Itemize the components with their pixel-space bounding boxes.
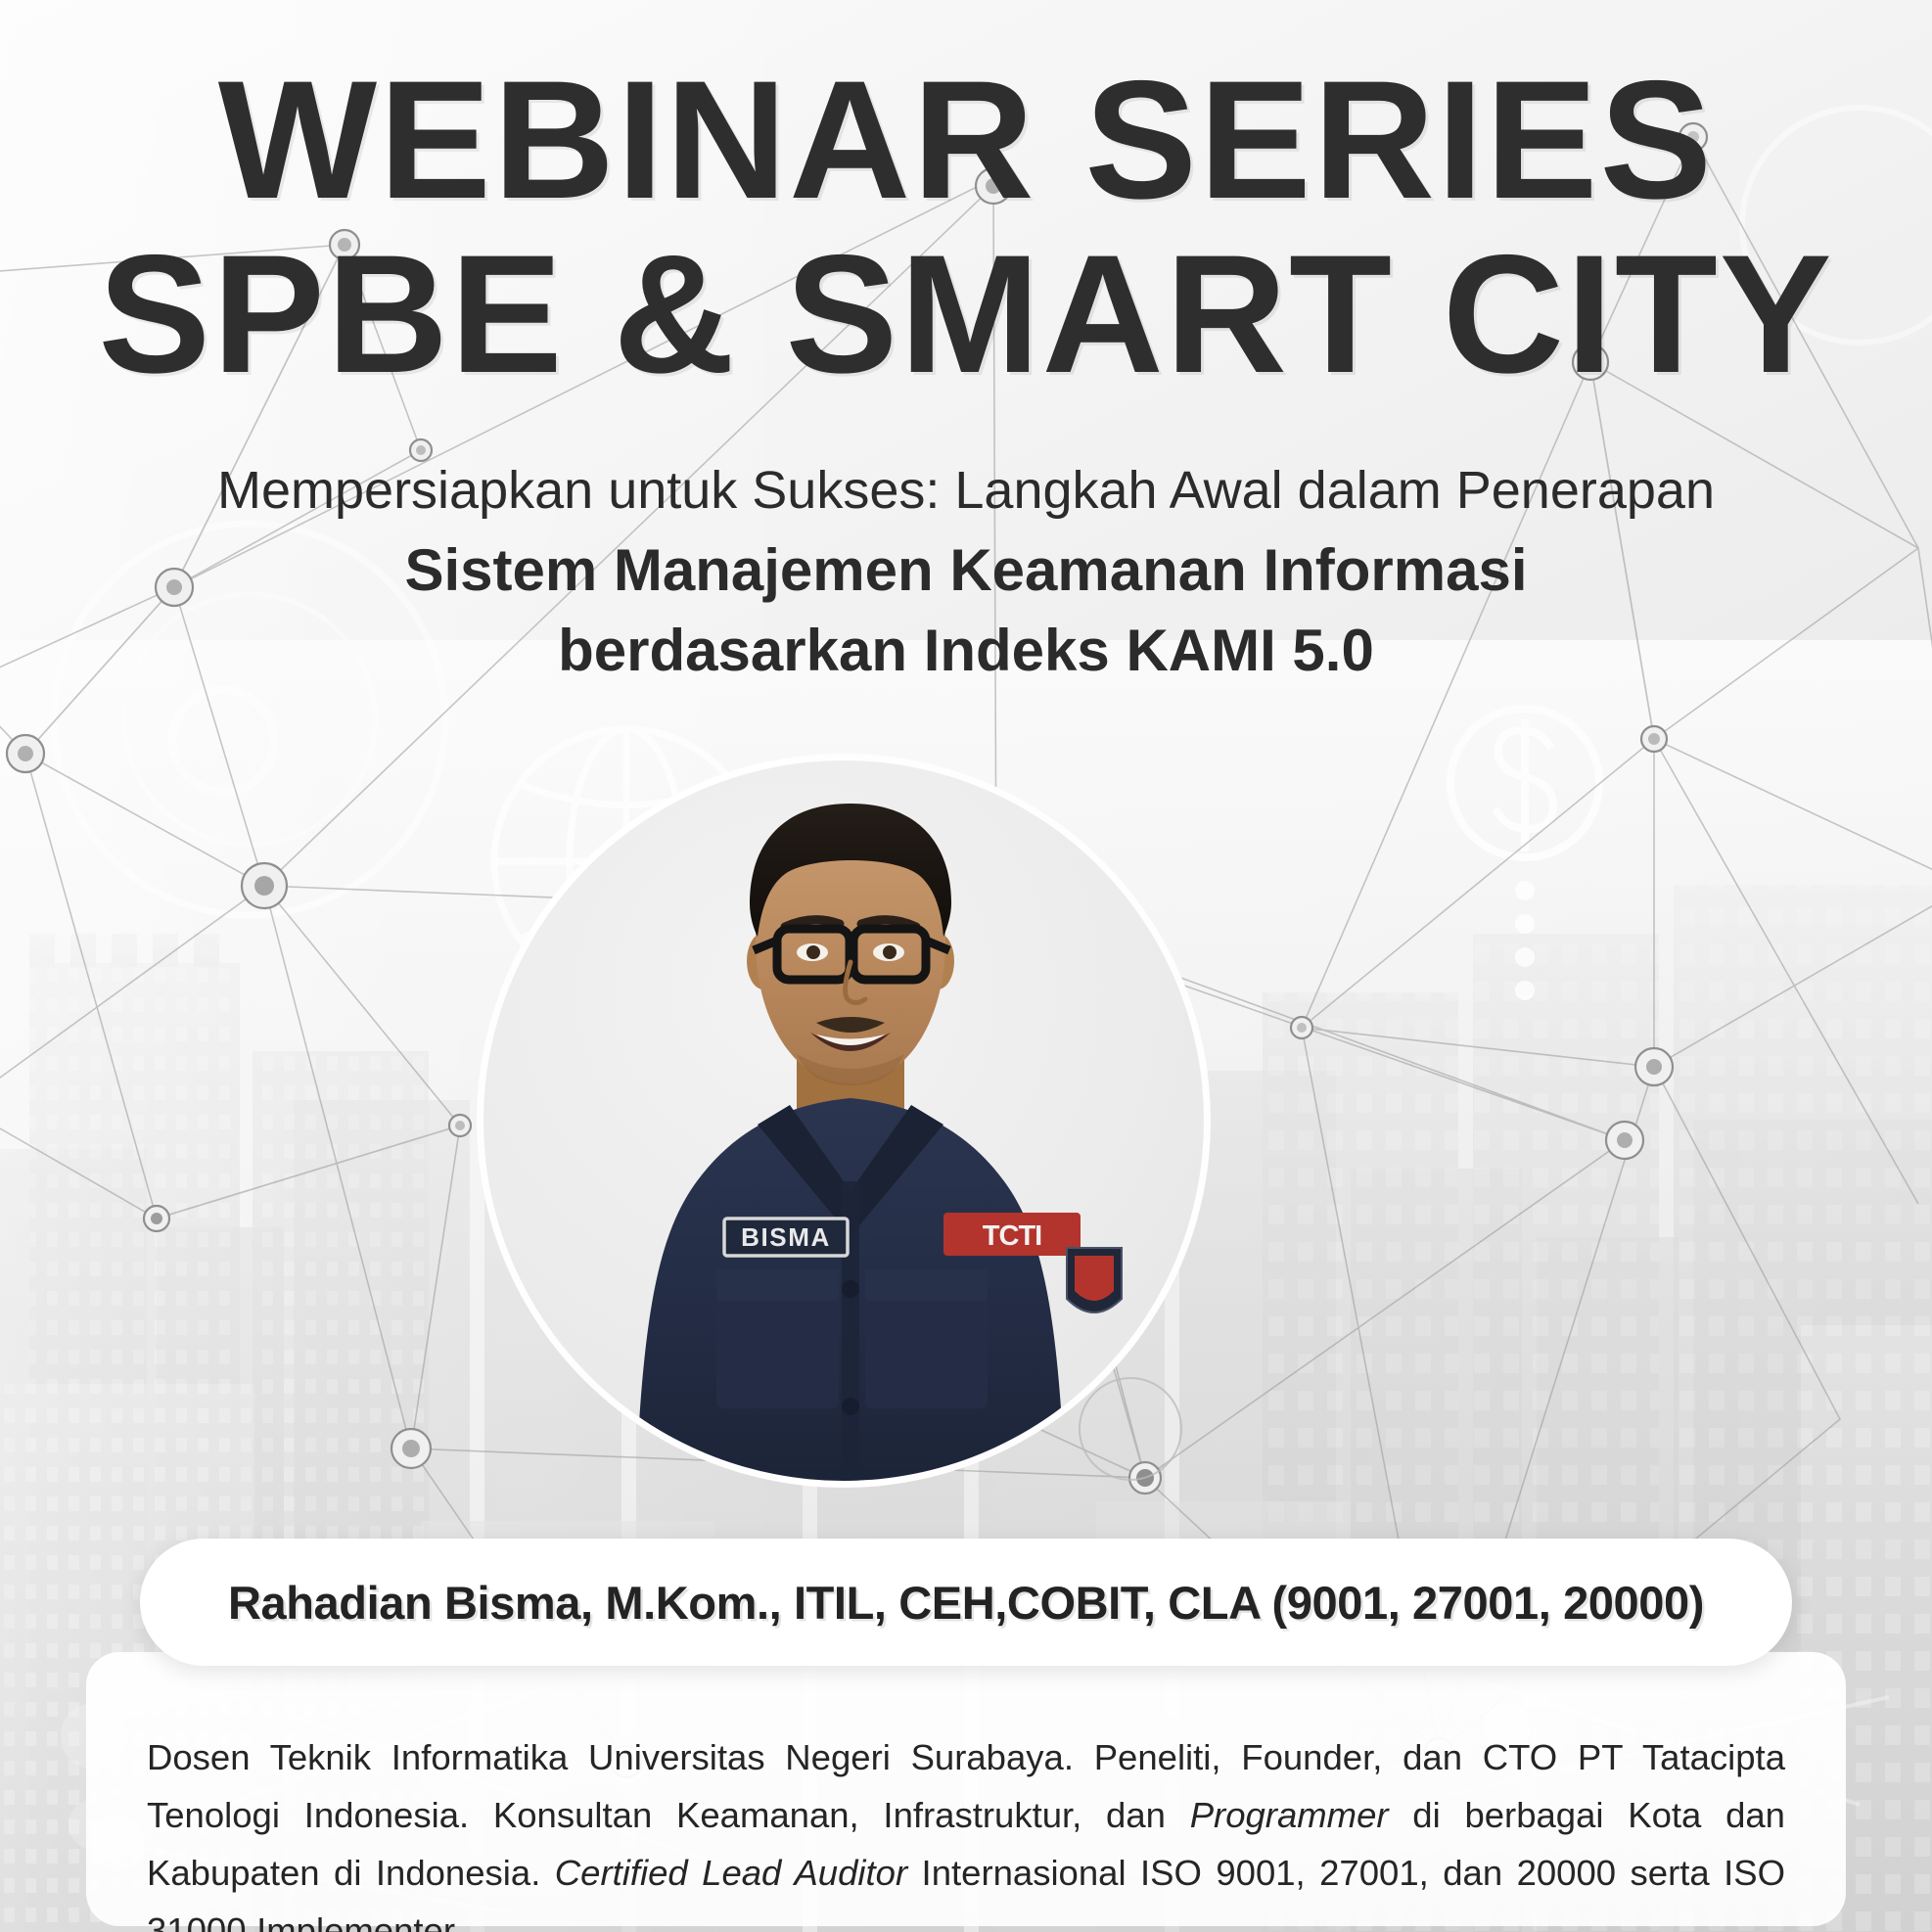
speaker-bio-text: Dosen Teknik Informatika Universitas Neg… <box>147 1728 1785 1932</box>
bio-emphasis: Programmer <box>1190 1795 1389 1835</box>
speaker-bio-card: Dosen Teknik Informatika Universitas Neg… <box>86 1652 1846 1926</box>
speaker-name-pill: Rahadian Bisma, M.Kom., ITIL, CEH,COBIT,… <box>140 1539 1792 1666</box>
portrait-logo-patch-text: TCTI <box>983 1220 1041 1252</box>
bio-emphasis: Certified Lead Auditor <box>555 1853 907 1893</box>
webinar-poster: WEBINAR SERIES SPBE & SMART CITY Mempers… <box>0 0 1932 1932</box>
portrait-name-tag-text: BISMA <box>741 1222 831 1252</box>
page-title-line1: WEBINAR SERIES <box>0 53 1932 228</box>
speaker-name-credentials: Rahadian Bisma, M.Kom., ITIL, CEH,COBIT,… <box>228 1576 1704 1630</box>
subtitle-line3: berdasarkan Indeks KAMI 5.0 <box>0 617 1932 684</box>
subtitle-line2: Sistem Manajemen Keamanan Informasi <box>0 536 1932 604</box>
subtitle-line1: Mempersiapkan untuk Sukses: Langkah Awal… <box>0 460 1932 521</box>
page-title-line2: SPBE & SMART CITY <box>0 227 1932 402</box>
speaker-portrait: BISMA TCTI <box>477 754 1211 1488</box>
